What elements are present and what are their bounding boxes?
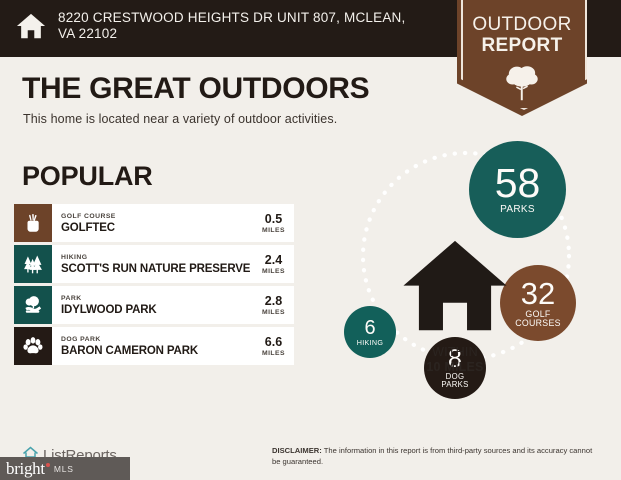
distance-unit: MILES (262, 226, 285, 235)
distance-value: 0.5 (265, 212, 282, 226)
bright-mls-logo[interactable]: bright MLS (0, 457, 130, 480)
bubble-parks-label: PARKS (500, 205, 535, 216)
property-address: 8220 CRESTWOOD HEIGHTS DR UNIT 807, MCLE… (58, 8, 426, 42)
page-subtitle: This home is located near a variety of o… (23, 112, 337, 126)
distance-value: 2.4 (265, 253, 282, 267)
outdoor-report-page: 8220 CRESTWOOD HEIGHTS DR UNIT 807, MCLE… (0, 0, 621, 480)
list-item[interactable]: DOG PARK BARON CAMERON PARK 6.6 MILES (14, 327, 294, 365)
list-item[interactable]: GOLF COURSE GOLFTEC 0.5 MILES (14, 204, 294, 242)
tree-icon (505, 62, 539, 100)
list-item-name: GOLFTEC (61, 221, 258, 235)
paw-print-icon (14, 327, 52, 365)
bubble-parks[interactable]: 58 PARKS (469, 141, 566, 238)
pine-trees-icon (14, 245, 52, 283)
bubble-golf-label-line2: COURSES (515, 319, 561, 328)
badge-line1: OUTDOOR (457, 14, 587, 35)
list-item-distance: 0.5 MILES (258, 204, 294, 242)
list-item[interactable]: HIKING SCOTT'S RUN NATURE PRESERVE 2.4 M… (14, 245, 294, 283)
bubble-golf-count: 32 (521, 278, 555, 309)
within-line1: WITHIN (400, 345, 510, 360)
list-item-distance: 2.8 MILES (258, 286, 294, 324)
bubble-golf-courses[interactable]: 32 GOLF COURSES (500, 265, 576, 341)
list-item[interactable]: PARK IDYLWOOD PARK 2.8 MILES (14, 286, 294, 324)
list-item-text: DOG PARK BARON CAMERON PARK (52, 327, 258, 365)
park-tree-bench-icon (14, 286, 52, 324)
disclaimer: DISCLAIMER: The information in this repo… (272, 446, 602, 467)
list-item-distance: 6.6 MILES (258, 327, 294, 365)
bubble-hiking-label: HIKING (357, 339, 384, 347)
bright-word: bright (6, 459, 45, 479)
disclaimer-label: DISCLAIMER: (272, 446, 322, 455)
distance-unit: MILES (262, 349, 285, 358)
within-line2: 10 MILES (426, 360, 483, 374)
popular-list: GOLF COURSE GOLFTEC 0.5 MILES (14, 204, 294, 368)
list-item-name: BARON CAMERON PARK (61, 344, 258, 358)
list-item-category: DOG PARK (61, 335, 258, 344)
list-item-text: PARK IDYLWOOD PARK (52, 286, 258, 324)
distance-value: 2.8 (265, 294, 282, 308)
within-text: WITHIN 10 MILES (400, 345, 510, 375)
bubble-hiking-count: 6 (364, 318, 375, 338)
page-title: THE GREAT OUTDOORS (22, 72, 369, 106)
distance-unit: MILES (262, 308, 285, 317)
home-icon (400, 324, 510, 341)
list-item-name: IDYLWOOD PARK (61, 303, 258, 317)
golf-bag-icon (14, 204, 52, 242)
list-item-category: HIKING (61, 253, 258, 262)
list-item-text: GOLF COURSE GOLFTEC (52, 204, 258, 242)
section-title-popular: POPULAR (22, 161, 153, 192)
within-10-miles-diagram: 58 PARKS 32 GOLF COURSES 8 DOG PARKS 6 H… (320, 138, 615, 433)
distance-unit: MILES (262, 267, 285, 276)
badge-title: OUTDOOR REPORT (457, 14, 587, 56)
home-icon (16, 11, 46, 41)
diagram-center-label: WITHIN 10 MILES (400, 234, 510, 375)
distance-value: 6.6 (265, 335, 282, 349)
list-item-distance: 2.4 MILES (258, 245, 294, 283)
list-item-text: HIKING SCOTT'S RUN NATURE PRESERVE (52, 245, 258, 283)
bubble-parks-count: 58 (495, 163, 541, 204)
list-item-category: GOLF COURSE (61, 212, 258, 221)
bubble-dog-label-line2: PARKS (441, 381, 468, 389)
bright-dot-icon (46, 463, 50, 467)
bubble-hiking[interactable]: 6 HIKING (344, 306, 396, 358)
badge-line2: REPORT (457, 35, 587, 56)
header-address-block: 8220 CRESTWOOD HEIGHTS DR UNIT 807, MCLE… (16, 8, 426, 52)
bright-mls-text: MLS (54, 464, 74, 474)
list-item-name: SCOTT'S RUN NATURE PRESERVE (61, 262, 258, 276)
list-item-category: PARK (61, 294, 258, 303)
